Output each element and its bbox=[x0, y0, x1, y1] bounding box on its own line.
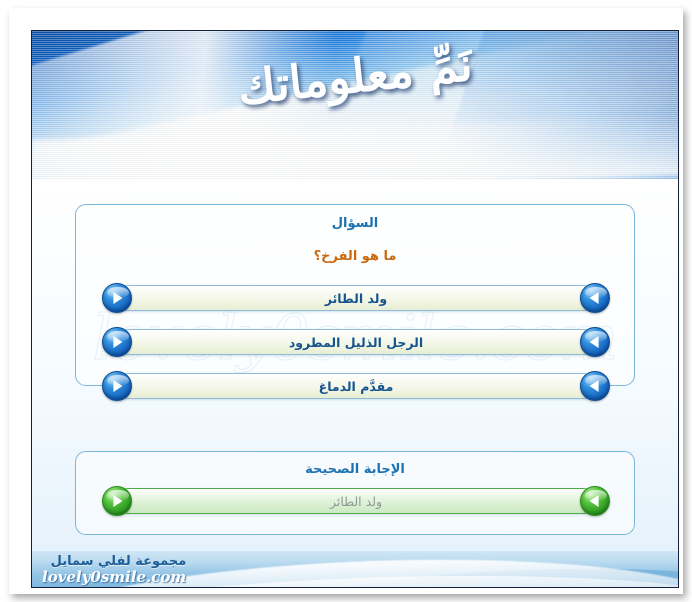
content-area: lovely0smile.com السؤال ما هو الفرخ؟ ولد… bbox=[32, 179, 678, 551]
play-arrow-icon[interactable] bbox=[102, 486, 132, 516]
question-text: ما هو الفرخ؟ bbox=[76, 249, 634, 264]
correct-answer-heading: الإجابة الصحيحة bbox=[76, 462, 634, 477]
play-arrow-icon[interactable] bbox=[102, 283, 132, 313]
header-banner: نَمِّ معلوماتك bbox=[32, 31, 678, 179]
correct-answer-panel: الإجابة الصحيحة ولد الطائر bbox=[75, 451, 635, 535]
triangle-left-glyph bbox=[590, 292, 599, 304]
footer-website-url[interactable]: lovely0smile.com bbox=[42, 569, 186, 586]
triangle-left-glyph bbox=[590, 380, 599, 392]
option-pill[interactable]: الرجل الذليل المطرود bbox=[116, 329, 596, 355]
triangle-right-glyph bbox=[113, 495, 122, 507]
correct-answer-row[interactable]: ولد الطائر bbox=[102, 486, 610, 516]
footer-banner: مجموعة لفلي سمايل lovely0smile.com bbox=[32, 551, 678, 587]
footer-texts: مجموعة لفلي سمايل lovely0smile.com bbox=[42, 554, 186, 586]
outer-frame: نَمِّ معلوماتك lovely0smile.com السؤال م… bbox=[9, 8, 683, 594]
back-arrow-icon[interactable] bbox=[580, 486, 610, 516]
option-pill[interactable]: ولد الطائر bbox=[116, 285, 596, 311]
option-pill[interactable]: مقدَّم الدماغ bbox=[116, 373, 596, 399]
back-arrow-icon[interactable] bbox=[580, 371, 610, 401]
quiz-card: نَمِّ معلوماتك lovely0smile.com السؤال م… bbox=[31, 30, 679, 588]
screenshot-root: نَمِّ معلوماتك lovely0smile.com السؤال م… bbox=[0, 0, 692, 602]
option-label: ولد الطائر bbox=[117, 291, 595, 306]
triangle-right-glyph bbox=[113, 380, 122, 392]
triangle-right-glyph bbox=[113, 292, 122, 304]
option-label: مقدَّم الدماغ bbox=[117, 379, 595, 394]
correct-answer-label: ولد الطائر bbox=[117, 494, 595, 509]
footer-brand-arabic: مجموعة لفلي سمايل bbox=[42, 554, 186, 569]
correct-answer-pill[interactable]: ولد الطائر bbox=[116, 488, 596, 514]
play-arrow-icon[interactable] bbox=[102, 371, 132, 401]
triangle-left-glyph bbox=[590, 495, 599, 507]
back-arrow-icon[interactable] bbox=[580, 283, 610, 313]
option-row[interactable]: مقدَّم الدماغ bbox=[102, 371, 610, 401]
option-label: الرجل الذليل المطرود bbox=[117, 335, 595, 350]
option-row[interactable]: ولد الطائر bbox=[102, 283, 610, 313]
play-arrow-icon[interactable] bbox=[102, 327, 132, 357]
triangle-left-glyph bbox=[590, 336, 599, 348]
question-heading: السؤال bbox=[76, 216, 634, 231]
triangle-right-glyph bbox=[113, 336, 122, 348]
option-row[interactable]: الرجل الذليل المطرود bbox=[102, 327, 610, 357]
back-arrow-icon[interactable] bbox=[580, 327, 610, 357]
question-panel: السؤال ما هو الفرخ؟ ولد الطائر bbox=[75, 204, 635, 386]
